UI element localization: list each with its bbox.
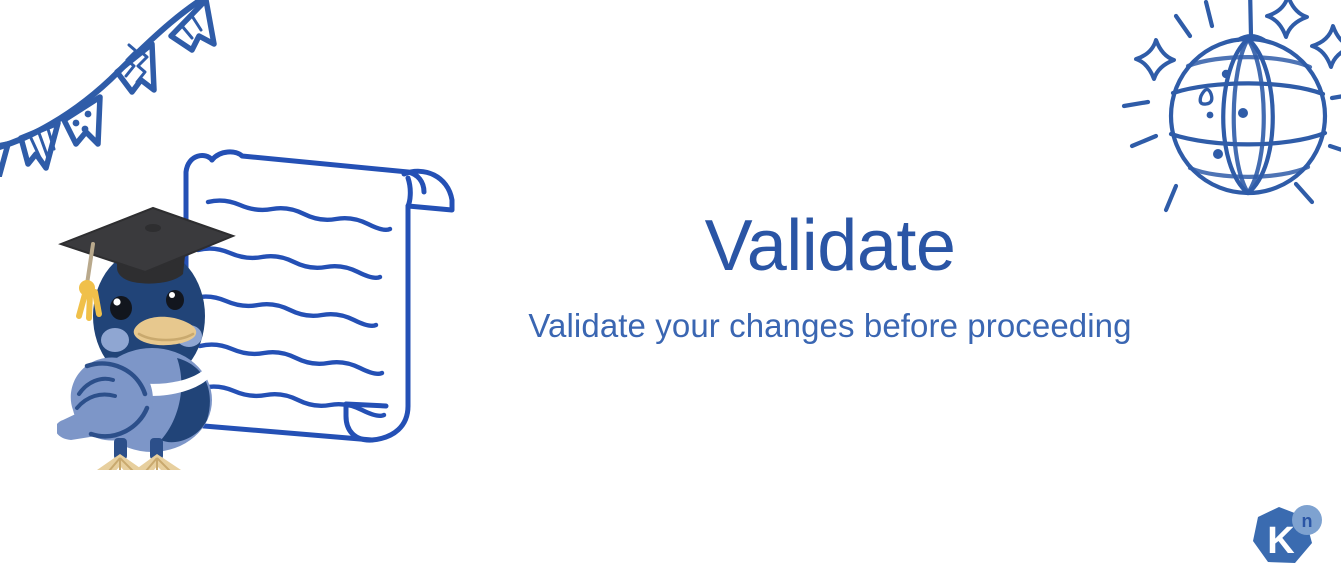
- page-subtitle: Validate your changes before proceeding: [480, 306, 1180, 346]
- page-title: Validate: [480, 205, 1180, 288]
- knative-logo: K n: [1250, 503, 1322, 571]
- graduate-bird-mascot: [57, 188, 242, 470]
- bunting-flags-illustration: [0, 0, 236, 177]
- logo-letter-n: n: [1302, 511, 1313, 531]
- logo-letter-k: K: [1267, 520, 1295, 562]
- hero-text-block: Validate Validate your changes before pr…: [480, 205, 1180, 345]
- slide-canvas: Validate Validate your changes before pr…: [0, 0, 1341, 585]
- scroll-certificate-illustration: [176, 138, 466, 463]
- disco-ball-illustration: [1118, 0, 1341, 223]
